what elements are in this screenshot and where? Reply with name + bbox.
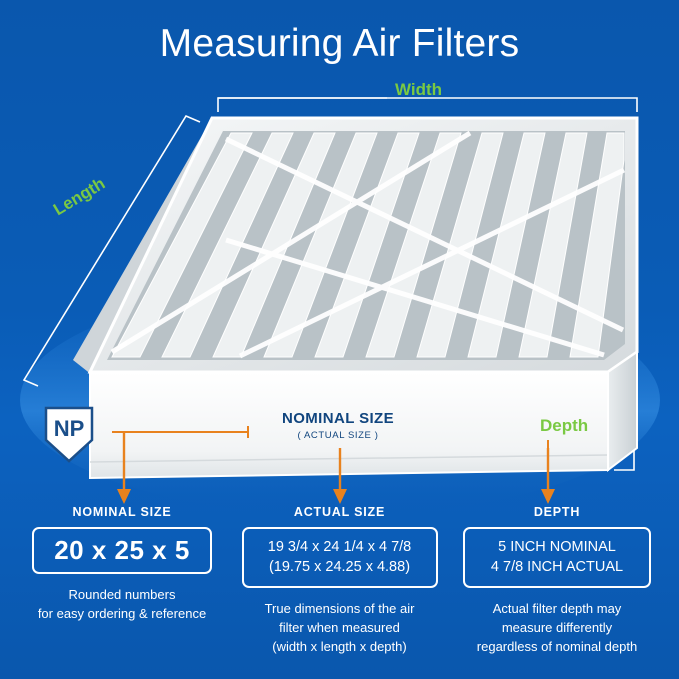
card-actual-size-heading: ACTUAL SIZE xyxy=(240,505,440,519)
nominal-size-callout: NOMINAL SIZE ( ACTUAL SIZE ) xyxy=(248,410,428,441)
info-cards: NOMINAL SIZE 20 x 25 x 5 Rounded numbers… xyxy=(0,505,679,657)
card-nominal-size-heading: NOMINAL SIZE xyxy=(22,505,222,519)
poster-stage: Measuring Air Filters xyxy=(0,0,679,679)
label-width: Width xyxy=(395,80,442,100)
card-depth-value-line-2: 4 7/8 INCH ACTUAL xyxy=(471,558,643,578)
card-nominal-size-value: 20 x 25 x 5 xyxy=(40,535,204,566)
svg-text:NP: NP xyxy=(54,416,85,441)
card-actual-size-value-line-2: (19.75 x 24.25 x 4.88) xyxy=(250,558,430,578)
filter-top-face xyxy=(73,118,637,375)
card-nominal-size-value-box: 20 x 25 x 5 xyxy=(32,527,212,574)
card-actual-size-description: True dimensions of the air filter when m… xyxy=(240,600,440,657)
card-actual-size: ACTUAL SIZE 19 3/4 x 24 1/4 x 4 7/8 (19.… xyxy=(240,505,440,657)
card-nominal-size: NOMINAL SIZE 20 x 25 x 5 Rounded numbers… xyxy=(22,505,222,657)
card-depth-value-line-1: 5 INCH NOMINAL xyxy=(471,538,643,558)
nominal-size-callout-subtitle: ( ACTUAL SIZE ) xyxy=(248,430,428,441)
nominal-size-callout-title: NOMINAL SIZE xyxy=(248,410,428,427)
width-dimension-bracket xyxy=(218,98,637,112)
card-depth-description: Actual filter depth may measure differen… xyxy=(457,600,657,657)
label-depth: Depth xyxy=(540,416,588,436)
card-depth: DEPTH 5 INCH NOMINAL 4 7/8 INCH ACTUAL A… xyxy=(457,505,657,657)
card-depth-value-box: 5 INCH NOMINAL 4 7/8 INCH ACTUAL xyxy=(463,527,651,588)
filter-right-face xyxy=(608,352,637,470)
card-actual-size-value-box: 19 3/4 x 24 1/4 x 4 7/8 (19.75 x 24.25 x… xyxy=(242,527,438,588)
card-actual-size-value-line-1: 19 3/4 x 24 1/4 x 4 7/8 xyxy=(250,538,430,558)
card-nominal-size-description: Rounded numbers for easy ordering & refe… xyxy=(22,586,222,624)
card-depth-heading: DEPTH xyxy=(457,505,657,519)
